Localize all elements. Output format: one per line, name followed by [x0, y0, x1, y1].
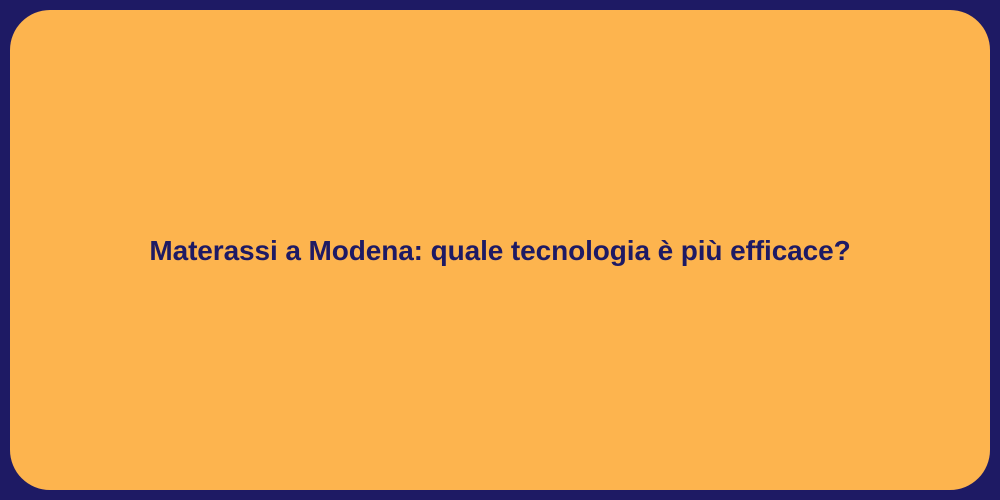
banner-card: Materassi a Modena: quale tecnologia è p… [10, 10, 990, 490]
banner-headline: Materassi a Modena: quale tecnologia è p… [149, 233, 850, 268]
banner-outer-frame: Materassi a Modena: quale tecnologia è p… [0, 0, 1000, 500]
